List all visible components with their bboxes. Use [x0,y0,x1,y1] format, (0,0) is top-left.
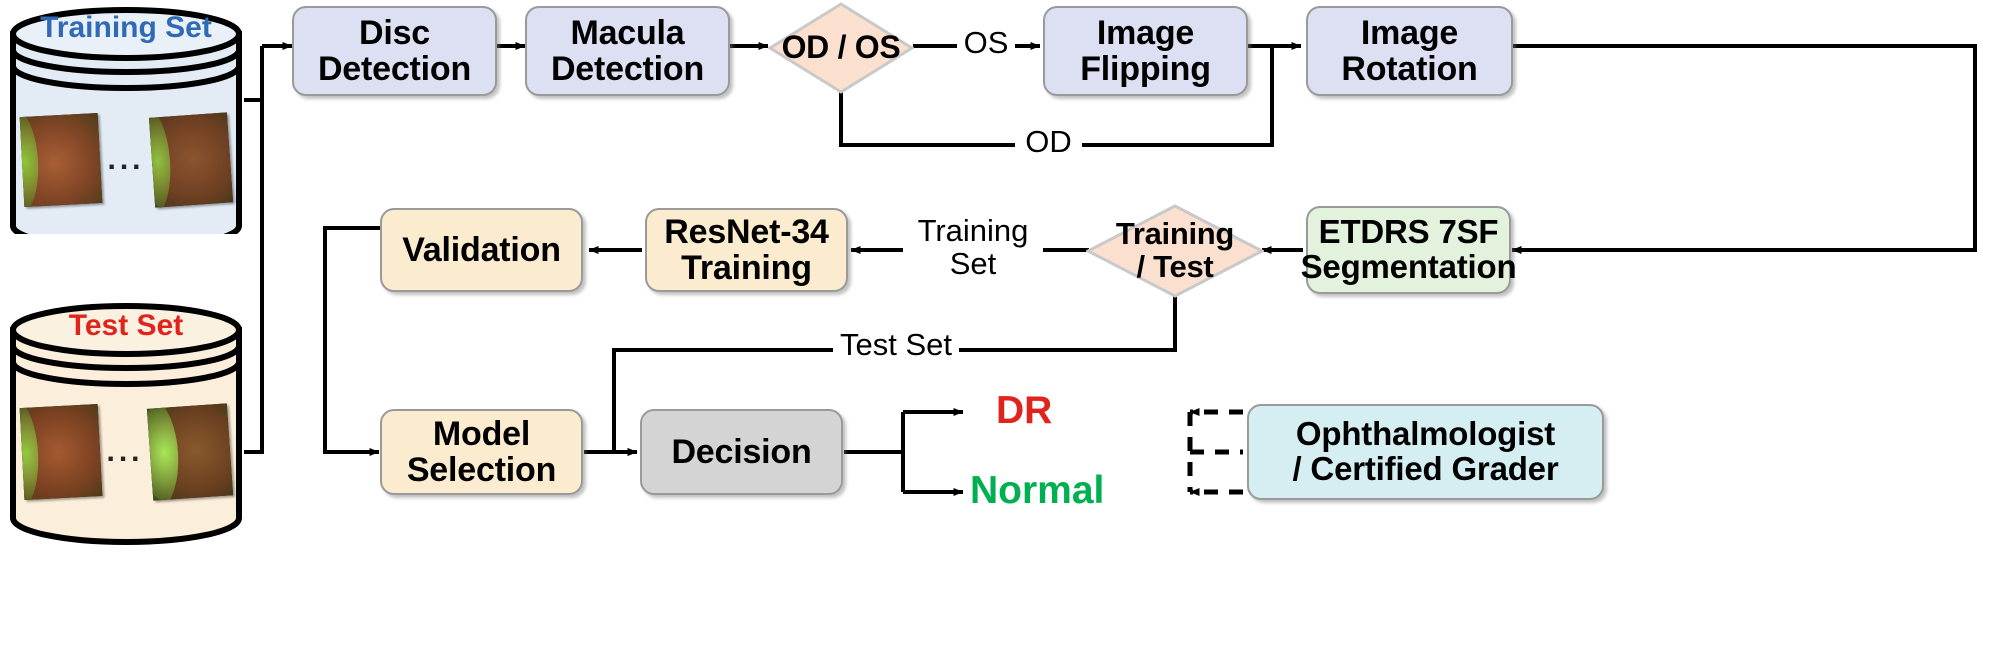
edge-label-od: OD [1015,126,1082,159]
outcome-dr: DR [996,389,1052,433]
dataset-thumbnails: ... [22,112,230,208]
node-macula-detection[interactable]: Macula Detection [525,6,730,96]
node-label: OD / OS [782,31,901,65]
dataset-title: Training Set [8,11,244,45]
node-od-os-decision[interactable]: OD / OS [768,2,914,94]
node-validation[interactable]: Validation [380,208,583,292]
connector-layer [0,0,2007,651]
node-resnet-training[interactable]: ResNet-34 Training [645,208,848,292]
node-label: Training / Test [1116,218,1234,283]
node-training-test-decision[interactable]: Training / Test [1086,204,1264,298]
dataset-ellipsis: ... [107,143,144,177]
fundus-thumbnail [20,113,103,207]
outcome-normal: Normal [970,469,1104,513]
edge-label-training-set: Training Set [903,215,1043,280]
fundus-thumbnail [20,404,103,500]
dataset-training-set: Training Set ... [8,4,244,234]
edge-label-test-set: Test Set [833,329,959,362]
node-ophthalmologist-grader[interactable]: Ophthalmologist / Certified Grader [1247,404,1604,500]
edge-label-os: OS [957,27,1015,60]
node-model-selection[interactable]: Model Selection [380,409,583,495]
fundus-thumbnail [147,403,233,500]
dataset-ellipsis: ... [106,435,143,469]
node-image-rotation[interactable]: Image Rotation [1306,6,1513,96]
dataset-thumbnails: ... [22,404,230,500]
fundus-thumbnail [149,112,233,207]
node-etdrs-segmentation[interactable]: ETDRS 7SF Segmentation [1306,206,1511,294]
flowchart-canvas: Training Set ... Test Set .. [0,0,2007,651]
node-decision[interactable]: Decision [640,409,843,495]
node-image-flipping[interactable]: Image Flipping [1043,6,1248,96]
node-disc-detection[interactable]: Disc Detection [292,6,497,96]
dataset-test-set: Test Set ... [8,300,244,548]
dataset-title: Test Set [8,309,244,343]
